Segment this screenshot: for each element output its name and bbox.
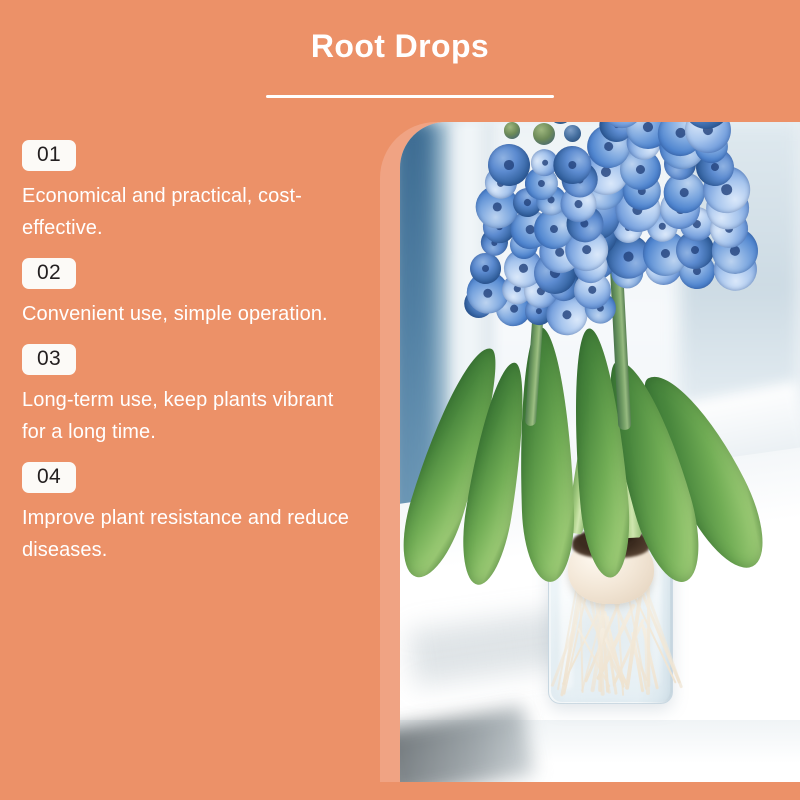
list-item: 01 Economical and practical, cost-effect… bbox=[22, 140, 362, 244]
feature-description-03: Long-term use, keep plants vibrant for a… bbox=[22, 384, 352, 448]
feature-number-badge-03: 03 bbox=[22, 344, 76, 375]
title-underline-divider bbox=[266, 95, 554, 98]
product-photo bbox=[400, 122, 800, 782]
feature-number-badge-01: 01 bbox=[22, 140, 76, 171]
feature-description-04: Improve plant resistance and reduce dise… bbox=[22, 502, 352, 566]
feature-description-01: Economical and practical, cost-effective… bbox=[22, 180, 352, 244]
feature-number-badge-04: 04 bbox=[22, 462, 76, 493]
feature-description-02: Convenient use, simple operation. bbox=[22, 298, 352, 330]
list-item: 03 Long-term use, keep plants vibrant fo… bbox=[22, 344, 362, 448]
feature-list: 01 Economical and practical, cost-effect… bbox=[22, 140, 362, 566]
header: Root Drops bbox=[0, 0, 800, 122]
feature-number-badge-02: 02 bbox=[22, 258, 76, 289]
flower-bud bbox=[533, 123, 555, 145]
bottom-background-strip bbox=[0, 782, 800, 800]
flower-bud bbox=[564, 125, 581, 142]
flower-bud bbox=[504, 122, 521, 139]
hyacinth-scene-illustration bbox=[400, 122, 800, 782]
flower-bud bbox=[549, 122, 572, 124]
list-item: 02 Convenient use, simple operation. bbox=[22, 258, 362, 330]
page-title: Root Drops bbox=[0, 26, 800, 66]
list-item: 04 Improve plant resistance and reduce d… bbox=[22, 462, 362, 566]
